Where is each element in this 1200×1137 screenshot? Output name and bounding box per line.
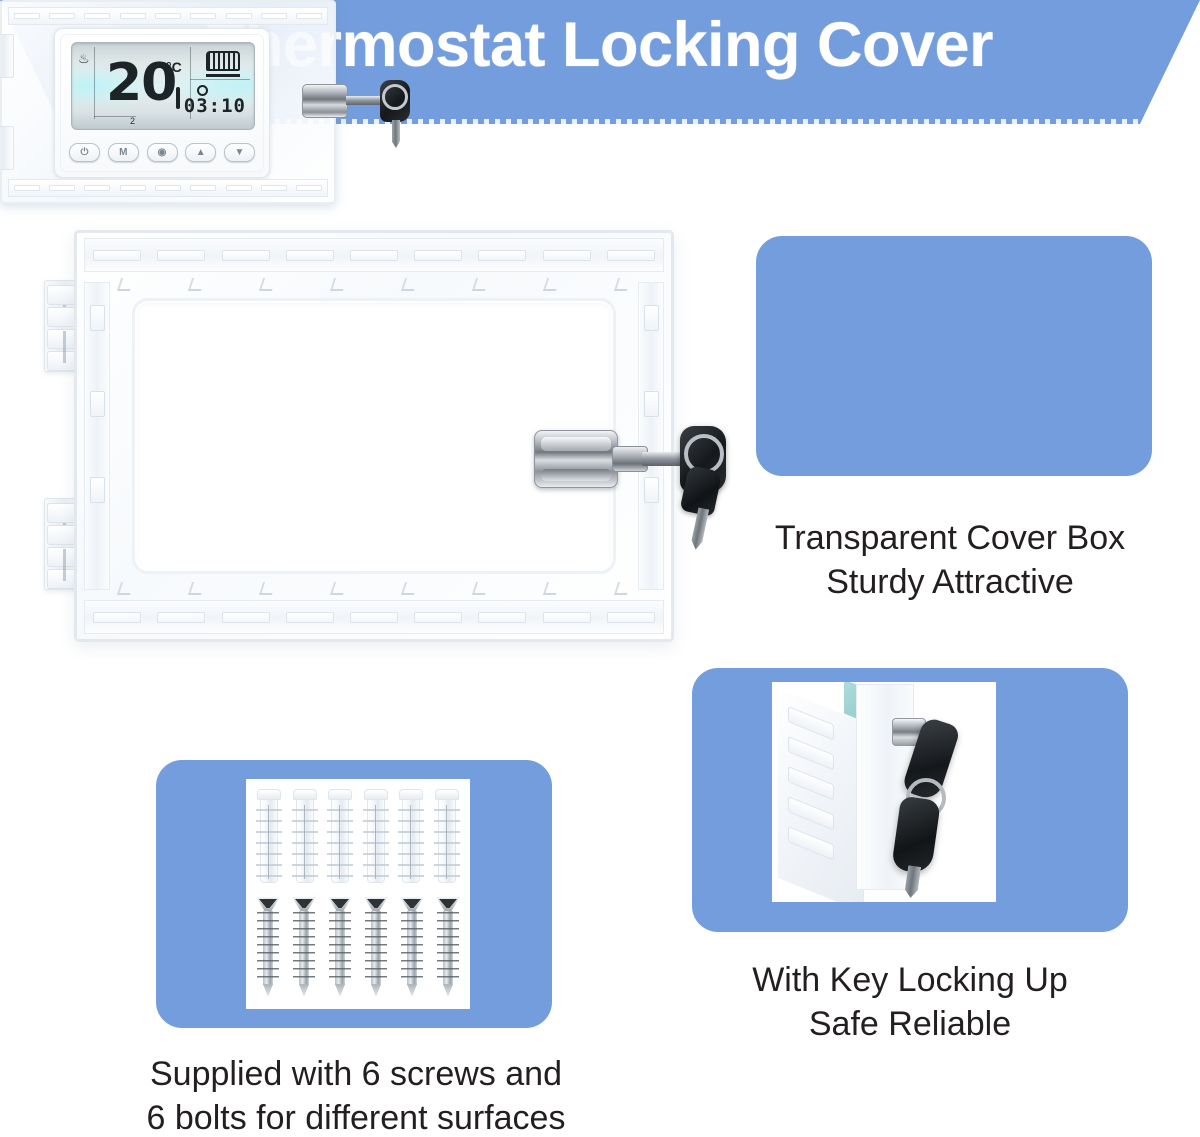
key-blade-icon-small [346, 96, 382, 105]
countersunk-screw [364, 897, 388, 997]
power-button[interactable]: ⏻ [69, 143, 100, 162]
lcd-temperature-unit: °C [166, 59, 182, 75]
countersunk-screw [400, 897, 424, 997]
cover-side-rail-left [84, 282, 110, 590]
cover-rim-bottom-small [8, 179, 328, 197]
cover-rim-bottom [84, 600, 664, 634]
lcd-program-number: 2 [130, 116, 135, 126]
countersunk-screw [328, 897, 352, 997]
wall-anchors-row [256, 789, 460, 885]
down-button[interactable]: ▼ [224, 143, 255, 162]
heater-icon [206, 51, 240, 71]
wall-anchor [256, 789, 282, 883]
cover-tabs-bottom [90, 580, 658, 596]
cover-rim-top [84, 238, 664, 272]
hero-product-image [44, 218, 744, 658]
cover-rim-top-small [8, 7, 328, 25]
countersunk-screw [292, 897, 316, 997]
product-infographic: Thermostat Locking Cover [0, 0, 1200, 1137]
cover-hinge-bottom-small [0, 126, 14, 170]
cover-hinge-top-small [0, 34, 14, 78]
cover-tabs-top [90, 276, 658, 292]
clock-button[interactable]: ◉ [147, 143, 178, 162]
flame-icon: ♨ [78, 51, 90, 67]
cover-angled-view [772, 682, 996, 902]
wall-anchor [292, 789, 318, 883]
panel-transparent-cover-image: ♨ 20 °C 2 03:10 ⏻ M ◉ ▲ ▼ [0, 0, 336, 204]
wall-anchor [398, 789, 424, 883]
key-ring-icon-small [382, 84, 408, 110]
heater-base-icon [206, 74, 240, 77]
wall-anchor [327, 789, 353, 883]
cover-front-view: ♨ 20 °C 2 03:10 ⏻ M ◉ ▲ ▼ [0, 0, 336, 204]
panel-transparent-cover [756, 236, 1152, 476]
mode-button[interactable]: M [108, 143, 139, 162]
digital-thermostat: ♨ 20 °C 2 03:10 ⏻ M ◉ ▲ ▼ [54, 28, 270, 178]
caption-mounting-hardware: Supplied with 6 screws and 6 bolts for d… [96, 1052, 616, 1137]
lcd-clock-time: 03:10 [184, 95, 246, 117]
spare-key-blade-icon-small [392, 120, 400, 148]
wall-anchor [363, 789, 389, 883]
lock-barrel-icon-small [302, 84, 348, 118]
panel-key-locking-image [772, 682, 996, 902]
up-button[interactable]: ▲ [185, 143, 216, 162]
caption-key-locking: With Key Locking Up Safe Reliable [700, 958, 1120, 1046]
wall-anchor [434, 789, 460, 883]
screws-row [256, 897, 460, 1001]
thermostat-lcd-display: ♨ 20 °C 2 03:10 [71, 42, 255, 130]
countersunk-screw [436, 897, 460, 997]
thermometer-icon [176, 87, 180, 109]
countersunk-screw [256, 897, 280, 997]
cover-side-face [778, 688, 864, 902]
panel-mounting-hardware-image [246, 779, 470, 1009]
lock-barrel-icon [534, 430, 618, 488]
caption-transparent-cover: Transparent Cover Box Sturdy Attractive [700, 516, 1200, 604]
thermostat-button-row: ⏻ M ◉ ▲ ▼ [69, 141, 255, 163]
